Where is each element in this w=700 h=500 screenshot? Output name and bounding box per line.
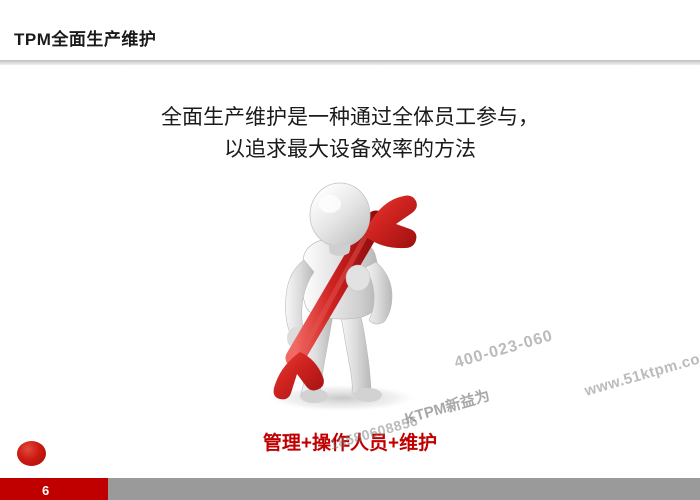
- head-highlight: [319, 195, 341, 213]
- page-title: TPM全面生产维护: [14, 25, 156, 50]
- headline-line-1: 全面生产维护是一种通过全体员工参与，: [0, 102, 700, 134]
- right-hand: [346, 265, 370, 291]
- bullet-dot: [17, 441, 46, 466]
- headline-text: 全面生产维护是一种通过全体员工参与， 以追求最大设备效率的方法: [0, 102, 700, 166]
- right-leg: [340, 309, 371, 395]
- title-divider: [0, 60, 700, 65]
- footer-red-block: [0, 478, 108, 500]
- slide-number: 6: [42, 483, 49, 498]
- wrench-jaw-top: [365, 196, 417, 249]
- figure-3d-character-wrench: [200, 160, 500, 420]
- caption-text: 管理+操作人员+维护: [0, 428, 700, 455]
- left-foot: [300, 389, 328, 403]
- watermark-site: www.51ktpm.com: [583, 347, 700, 400]
- head: [310, 183, 370, 247]
- character-illustration: [200, 160, 500, 420]
- slide: TPM全面生产维护 全面生产维护是一种通过全体员工参与， 以追求最大设备效率的方…: [0, 0, 700, 500]
- right-foot: [354, 388, 382, 402]
